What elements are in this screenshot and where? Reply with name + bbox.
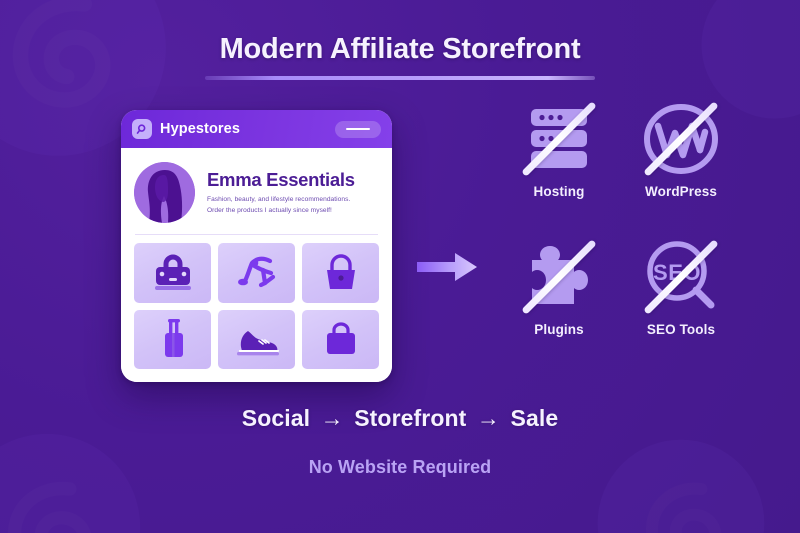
product-tile-handbag[interactable] <box>134 243 211 303</box>
product-tile-luggage[interactable] <box>134 310 211 370</box>
not-needed-label-seo-tools: SEO Tools <box>647 322 715 337</box>
not-needed-item-plugins: Plugins <box>498 238 620 358</box>
store-description: Fashion, beauty, and lifestyle recommend… <box>207 195 379 215</box>
tote-bag-icon <box>318 320 364 358</box>
product-grid <box>134 243 379 369</box>
flow-text: Social → Storefront → Sale <box>0 405 800 432</box>
store-description-line-1: Fashion, beauty, and lifestyle recommend… <box>207 195 379 205</box>
woman-avatar <box>134 162 195 223</box>
storefront-body: Emma Essentials Fashion, beauty, and lif… <box>121 148 392 382</box>
product-tile-heels[interactable] <box>218 243 295 303</box>
footer-block: Social → Storefront → Sale No Website Re… <box>0 405 800 478</box>
not-needed-item-wordpress: WordPress <box>620 100 742 220</box>
not-needed-item-seo-tools: SEO SEO Tools <box>620 238 742 358</box>
sneaker-icon <box>229 319 285 359</box>
flow-step-social: Social <box>242 405 310 431</box>
brand-name: Hypestores <box>160 121 240 137</box>
purse-icon <box>318 252 364 294</box>
hosting-icon-wrap <box>517 100 601 178</box>
menu-pill-line <box>346 128 370 131</box>
right-arrow-icon <box>413 247 483 287</box>
handbag-icon <box>148 252 198 294</box>
storefront-app-header: Hypestores <box>121 110 392 148</box>
flow-step-sale: Sale <box>511 405 559 431</box>
page-title: Modern Affiliate Storefront <box>0 34 800 66</box>
flow-arrow-separator-2: → <box>473 405 504 431</box>
storefront-phone-mockup: Hypestores <box>121 110 392 382</box>
not-needed-label-wordpress: WordPress <box>645 184 717 199</box>
luggage-icon <box>157 317 189 361</box>
title-underline <box>205 76 595 80</box>
profile-row: Emma Essentials Fashion, beauty, and lif… <box>134 158 379 225</box>
not-needed-label-hosting: Hosting <box>534 184 585 199</box>
store-name: Emma Essentials <box>207 170 379 190</box>
not-needed-label-plugins: Plugins <box>534 322 583 337</box>
not-needed-item-hosting: Hosting <box>498 100 620 220</box>
product-tile-sneaker[interactable] <box>218 310 295 370</box>
seo-tools-icon-wrap: SEO <box>639 238 723 316</box>
store-description-line-2: Order the products I actually since myse… <box>207 206 379 216</box>
footer-subtitle: No Website Required <box>0 457 800 478</box>
product-tile-tote[interactable] <box>302 310 379 370</box>
profile-text: Emma Essentials Fashion, beauty, and lif… <box>207 169 379 216</box>
flow-arrow-separator-1: → <box>317 405 348 431</box>
plugins-icon-wrap <box>517 238 601 316</box>
poster-canvas: Modern Affiliate Storefront Hypestores <box>0 0 800 533</box>
product-tile-purse[interactable] <box>302 243 379 303</box>
title-block: Modern Affiliate Storefront <box>0 34 800 80</box>
menu-pill-button[interactable] <box>335 121 381 138</box>
not-needed-grid: Hosting WordPress <box>498 100 742 358</box>
search-badge-icon <box>132 119 152 139</box>
wordpress-icon-wrap <box>639 100 723 178</box>
heels-figure-icon <box>231 253 283 293</box>
flow-step-storefront: Storefront <box>354 405 466 431</box>
section-divider <box>135 234 378 235</box>
